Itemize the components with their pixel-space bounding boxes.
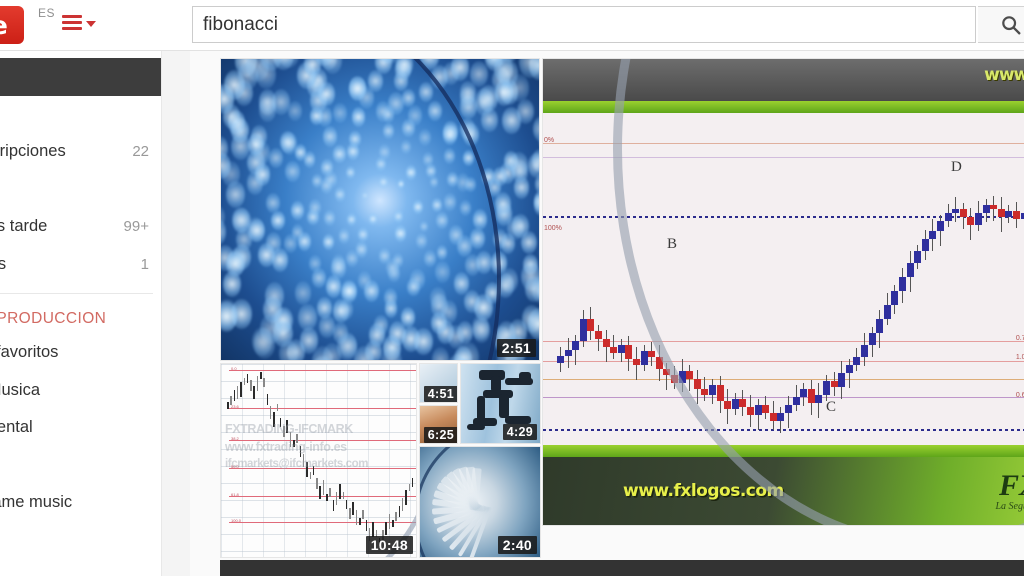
burst-dot bbox=[333, 145, 345, 163]
burst-dot bbox=[312, 268, 326, 288]
sidebar-item-count: 1 bbox=[141, 256, 149, 273]
candle-body bbox=[945, 213, 952, 221]
candle-body bbox=[603, 339, 610, 347]
sidebar-item-3[interactable]: rial bbox=[0, 171, 161, 209]
candle-body bbox=[793, 397, 800, 405]
burst-dot bbox=[291, 201, 304, 220]
burst-dot bbox=[406, 165, 416, 180]
candle-body bbox=[785, 405, 792, 413]
burst-dot bbox=[269, 148, 283, 169]
burst-dot bbox=[358, 227, 368, 242]
burst-dot bbox=[339, 228, 350, 244]
candle-body bbox=[831, 381, 838, 387]
price-tick bbox=[399, 506, 401, 517]
burst-dot bbox=[362, 191, 369, 201]
video-duration: 2:51 bbox=[497, 339, 536, 357]
country-code-label: ES bbox=[38, 6, 55, 20]
fibonacci-level-line bbox=[543, 379, 1024, 380]
burst-dot bbox=[514, 176, 530, 199]
candle-body bbox=[869, 333, 876, 345]
price-tick bbox=[257, 376, 259, 391]
price-tick bbox=[349, 508, 351, 519]
fx-green-band-top bbox=[543, 101, 1024, 113]
burst-dot bbox=[465, 177, 476, 193]
price-tick bbox=[244, 378, 246, 385]
burst-dot bbox=[510, 74, 529, 102]
video-thumbnail-small-a[interactable]: 4:51 bbox=[419, 363, 458, 403]
burst-dot bbox=[528, 308, 540, 339]
burst-dot bbox=[368, 70, 383, 91]
video-thumbnail-hands[interactable]: 6:25 bbox=[419, 405, 458, 444]
chart-point-label-B: B bbox=[667, 236, 677, 253]
sidebar-playlist-0[interactable]: os favoritos bbox=[0, 334, 161, 372]
burst-dot bbox=[282, 132, 298, 155]
price-tick bbox=[237, 386, 239, 399]
fibonacci-level-line bbox=[543, 157, 1024, 158]
price-tick bbox=[267, 394, 269, 405]
burst-dot bbox=[346, 166, 355, 180]
bottom-dark-strip bbox=[220, 560, 1024, 576]
yoga-figure-part bbox=[499, 394, 509, 418]
burst-dot bbox=[319, 315, 335, 337]
fibonacci-level-line bbox=[543, 143, 1024, 144]
fibonacci-level-line bbox=[543, 361, 1024, 362]
candle-body bbox=[960, 209, 967, 217]
burst-dot bbox=[470, 61, 488, 87]
chart-gridline bbox=[221, 483, 416, 484]
chart-gridline bbox=[221, 364, 416, 365]
fibonacci-level-line bbox=[229, 370, 416, 371]
video-duration: 10:48 bbox=[366, 536, 413, 554]
burst-dot bbox=[369, 213, 378, 225]
video-thumbnail-forex-chart[interactable]: www.fx 0%100%0.7640 901.0000 870.78640.6… bbox=[542, 58, 1024, 526]
search-form bbox=[192, 6, 976, 43]
fx-watermark-top: www.fx bbox=[984, 65, 1024, 85]
burst-dot bbox=[432, 198, 442, 212]
candle-body bbox=[732, 399, 739, 409]
burst-dot bbox=[413, 200, 423, 214]
candle-body bbox=[808, 389, 815, 403]
fibonacci-level-label: 61.8 bbox=[231, 492, 239, 497]
candle-body bbox=[762, 405, 769, 413]
burst-dot bbox=[460, 200, 471, 216]
video-thumbnail-nautilus[interactable]: 2:40 bbox=[419, 446, 541, 558]
fx-watermark-url: www.fxlogos.com bbox=[623, 481, 784, 501]
fx-green-band-bottom bbox=[543, 445, 1024, 457]
burst-dot bbox=[414, 328, 433, 355]
candle-body bbox=[914, 251, 921, 263]
candle-body bbox=[686, 371, 693, 379]
candle-body bbox=[641, 351, 648, 365]
fx-logo-subtitle: La Segunda bbox=[996, 501, 1024, 512]
price-tick bbox=[270, 406, 272, 419]
burst-dot bbox=[420, 221, 428, 232]
burst-dots bbox=[221, 59, 539, 360]
candle-wick bbox=[575, 335, 576, 365]
price-tick bbox=[247, 374, 249, 383]
price-tick bbox=[405, 490, 407, 505]
fibonacci-level-line bbox=[543, 429, 1024, 431]
fibonacci-level-line bbox=[543, 216, 1024, 218]
candle-body bbox=[755, 405, 762, 415]
burst-dot bbox=[463, 123, 479, 146]
candle-body bbox=[891, 291, 898, 305]
sidebar-divider bbox=[0, 293, 153, 294]
chart-gridline bbox=[221, 517, 416, 518]
burst-dot bbox=[431, 65, 448, 89]
fibonacci-level-label: 1.0000 87 bbox=[1016, 354, 1024, 361]
price-tick bbox=[333, 500, 335, 511]
watermark-line-3: ifcmarkets@ifcmarkets.com bbox=[225, 458, 368, 470]
burst-dot bbox=[379, 144, 390, 160]
candle-body bbox=[884, 305, 891, 319]
burst-dot bbox=[343, 282, 356, 300]
price-tick bbox=[412, 478, 414, 487]
burst-dot bbox=[309, 199, 321, 216]
price-tick bbox=[402, 498, 404, 511]
sidebar-section-title: REPRODUCCION bbox=[0, 304, 161, 334]
fx-logo: FX bbox=[999, 469, 1024, 503]
price-tick bbox=[346, 500, 348, 509]
candle-body bbox=[656, 357, 663, 369]
candle-body bbox=[1013, 211, 1020, 219]
burst-dot bbox=[444, 193, 456, 210]
sidebar-playlist-4[interactable]: ogame music bbox=[0, 484, 161, 522]
candle-body bbox=[747, 407, 754, 415]
hamburger-bar bbox=[62, 21, 82, 24]
candle-body bbox=[701, 389, 708, 395]
price-tick bbox=[392, 520, 394, 527]
sidebar-item-count: 22 bbox=[132, 143, 149, 160]
burst-dot bbox=[252, 327, 272, 356]
thumbnail-grid: 2:51 www.fx 0%100%0.7640 901.0000 870.78… bbox=[220, 58, 1024, 558]
fibonacci-level-label: 0% bbox=[544, 137, 554, 144]
burst-dot bbox=[517, 99, 535, 125]
price-tick bbox=[372, 522, 374, 537]
burst-dot bbox=[321, 159, 333, 176]
candle-body bbox=[846, 365, 853, 373]
youtube-logo-mark: be bbox=[0, 6, 24, 44]
price-tick bbox=[339, 484, 341, 499]
chart-gridline bbox=[410, 364, 411, 557]
fibonacci-level-line bbox=[229, 496, 416, 497]
burst-dot bbox=[473, 209, 487, 230]
burst-dot bbox=[285, 161, 299, 182]
candle-body bbox=[998, 209, 1005, 217]
burst-dot bbox=[430, 176, 438, 187]
candle-body bbox=[929, 231, 936, 239]
price-tick bbox=[230, 396, 232, 405]
burst-dot bbox=[401, 140, 411, 154]
burst-dot bbox=[347, 213, 356, 226]
burst-dot bbox=[463, 150, 475, 167]
price-tick bbox=[362, 510, 364, 519]
price-tick bbox=[343, 492, 345, 499]
burst-dot bbox=[396, 58, 413, 77]
youtube-logo[interactable]: be bbox=[0, 5, 32, 45]
candle-body bbox=[679, 371, 686, 383]
search-icon bbox=[1000, 14, 1022, 36]
fibonacci-level-label: 100% bbox=[544, 225, 562, 232]
candle-body bbox=[739, 399, 746, 407]
watermark-line-1: FXTRADING-IFCMARK bbox=[225, 422, 353, 436]
candle-body bbox=[838, 373, 845, 387]
video-duration: 4:51 bbox=[424, 386, 458, 402]
burst-dot bbox=[470, 228, 485, 249]
chart-point-label-D: D bbox=[951, 159, 962, 176]
candle-body bbox=[823, 381, 830, 395]
sidebar-item-label: más tarde bbox=[0, 217, 47, 236]
burst-dot bbox=[435, 261, 450, 282]
candle-body bbox=[815, 395, 822, 403]
price-tick bbox=[227, 402, 229, 409]
candle-body bbox=[580, 319, 587, 341]
candle-body bbox=[800, 389, 807, 397]
burst-dot bbox=[431, 312, 446, 334]
chart-gridline bbox=[221, 500, 416, 501]
candle-body bbox=[694, 379, 701, 389]
burst-dot bbox=[426, 164, 436, 178]
price-tick bbox=[250, 380, 252, 391]
candle-body bbox=[922, 239, 929, 251]
candle-body bbox=[861, 345, 868, 357]
price-tick bbox=[277, 404, 279, 411]
fibonacci-level-label: 23.6 bbox=[231, 404, 239, 409]
burst-dot bbox=[333, 103, 347, 123]
burst-dot bbox=[437, 245, 448, 260]
candle-body bbox=[724, 401, 731, 409]
burst-dot bbox=[349, 131, 361, 148]
sidebar-item-label: uscripciones bbox=[0, 142, 66, 161]
price-tick bbox=[395, 512, 397, 521]
candle-body bbox=[625, 345, 632, 359]
price-tick bbox=[385, 522, 387, 535]
burst-dot bbox=[501, 233, 515, 254]
hamburger-menu-icon[interactable] bbox=[62, 15, 94, 37]
sidebar-playlist-1[interactable]: e Musica bbox=[0, 372, 161, 410]
fibonacci-level-label: 100.0 bbox=[231, 518, 241, 523]
burst-dot bbox=[255, 163, 271, 186]
burst-dot bbox=[398, 179, 405, 188]
video-duration: 2:40 bbox=[498, 536, 537, 554]
sidebar-item-2[interactable]: uscripciones 22 bbox=[0, 133, 161, 171]
fibonacci-level-line bbox=[543, 397, 1024, 398]
sidebar-item-0[interactable]: ver bbox=[0, 58, 161, 96]
burst-dot bbox=[473, 318, 490, 343]
candle-body bbox=[876, 319, 883, 333]
burst-dot bbox=[259, 89, 277, 115]
candle-body bbox=[937, 221, 944, 231]
sidebar-item-label: pras bbox=[0, 255, 6, 274]
burst-dot bbox=[352, 107, 365, 126]
burst-dot bbox=[379, 176, 388, 189]
candle-body bbox=[967, 217, 974, 225]
sidebar-item-count: 99+ bbox=[124, 218, 149, 235]
burst-dot bbox=[475, 88, 494, 115]
burst-dot bbox=[424, 250, 436, 267]
burst-dot bbox=[248, 133, 264, 156]
burst-dot bbox=[443, 125, 457, 145]
price-tick bbox=[366, 520, 368, 531]
search-input[interactable] bbox=[192, 6, 976, 43]
price-tick bbox=[356, 510, 358, 525]
price-tick bbox=[263, 378, 265, 387]
burst-dot bbox=[521, 231, 537, 254]
sidebar-content-gap bbox=[162, 51, 190, 576]
chart-point-label-C: C bbox=[826, 399, 836, 416]
burst-dot bbox=[476, 251, 492, 274]
burst-dot bbox=[295, 281, 311, 305]
burst-dot bbox=[335, 187, 346, 202]
candle-body bbox=[907, 263, 914, 277]
candle-body bbox=[1021, 213, 1024, 219]
candle-body bbox=[671, 375, 678, 383]
candle-body bbox=[983, 205, 990, 213]
candle-body bbox=[572, 341, 579, 350]
candle-body bbox=[777, 413, 784, 421]
fibonacci-level-label: 0.7640 90 bbox=[1016, 335, 1024, 342]
price-tick bbox=[326, 494, 328, 501]
hamburger-bar bbox=[62, 27, 82, 30]
burst-dot bbox=[407, 278, 420, 297]
candle-body bbox=[975, 213, 982, 225]
burst-dot bbox=[323, 126, 337, 147]
candle-body bbox=[587, 319, 594, 331]
burst-dot bbox=[323, 234, 334, 251]
burst-dot bbox=[539, 128, 540, 155]
burst-dot bbox=[271, 211, 284, 230]
burst-dot bbox=[419, 129, 431, 146]
burst-dot bbox=[444, 148, 455, 165]
masthead: be ES bbox=[0, 0, 1024, 51]
burst-dot bbox=[223, 271, 241, 297]
price-tick bbox=[323, 480, 325, 495]
price-tick bbox=[389, 514, 391, 529]
candle-body bbox=[853, 357, 860, 365]
sidebar-item-5[interactable]: pras 1 bbox=[0, 246, 161, 284]
candle-body bbox=[595, 331, 602, 339]
burst-dot bbox=[326, 275, 342, 298]
burst-dot bbox=[408, 105, 422, 125]
search-button[interactable] bbox=[978, 6, 1024, 43]
sidebar-item-1[interactable]: nal bbox=[0, 96, 161, 134]
burst-dot bbox=[324, 210, 335, 226]
candle-body bbox=[990, 205, 997, 209]
price-tick bbox=[240, 382, 242, 397]
burst-dot bbox=[288, 101, 302, 121]
video-duration: 4:29 bbox=[503, 424, 537, 440]
candle-body bbox=[663, 369, 670, 375]
sidebar-item-4[interactable]: más tarde 99+ bbox=[0, 208, 161, 246]
candle-body bbox=[717, 385, 724, 401]
hamburger-bar bbox=[62, 15, 82, 18]
chart-gridline bbox=[221, 364, 222, 557]
price-tick bbox=[352, 502, 354, 515]
burst-dot bbox=[419, 82, 433, 103]
sidebar-playlist-3[interactable]: ca bbox=[0, 447, 161, 485]
price-tick bbox=[316, 478, 318, 489]
burst-dot bbox=[394, 210, 403, 223]
video-thumbnail-blue-burst[interactable]: 2:51 bbox=[220, 58, 540, 361]
fx-top-band: www.fx bbox=[543, 59, 1024, 101]
burst-dot bbox=[312, 174, 322, 189]
candle-body bbox=[557, 356, 564, 363]
sidebar-playlist-2[interactable]: umental bbox=[0, 409, 161, 447]
price-tick bbox=[310, 472, 312, 479]
burst-dot bbox=[383, 123, 394, 139]
video-thumbnail-line-chart[interactable]: 0.023.638.250.061.8100.0 FXTRADING-IFCMA… bbox=[220, 363, 417, 558]
burst-dot bbox=[386, 258, 399, 277]
fx-bottom-band: www.fxlogos.com FX La Segunda bbox=[543, 457, 1024, 525]
candle-body bbox=[565, 350, 572, 356]
candle-body bbox=[618, 345, 625, 353]
price-tick bbox=[234, 390, 236, 401]
candle-body bbox=[610, 347, 617, 353]
search-results-region: 2:51 www.fx 0%100%0.7640 901.0000 870.78… bbox=[190, 51, 1024, 576]
watermark-line-2: www.fxtrading-info.es bbox=[225, 440, 347, 454]
burst-dot bbox=[493, 167, 506, 186]
burst-dot bbox=[402, 89, 415, 107]
burst-dot bbox=[346, 250, 358, 267]
price-tick bbox=[260, 372, 262, 379]
price-tick bbox=[409, 484, 411, 491]
candle-body bbox=[899, 277, 906, 291]
yoga-figure-part bbox=[505, 416, 531, 424]
price-tick bbox=[253, 386, 255, 399]
burst-dot bbox=[395, 225, 406, 241]
sidebar-guide: ver nal uscripciones 22 rial más tarde 9… bbox=[0, 51, 162, 576]
chart-gridline bbox=[221, 398, 416, 399]
burst-dot bbox=[436, 212, 448, 229]
chart-gridline bbox=[221, 415, 416, 416]
candle-body bbox=[770, 413, 777, 421]
price-tick bbox=[336, 492, 338, 505]
fibonacci-level-line bbox=[543, 341, 1024, 342]
video-duration: 6:25 bbox=[424, 427, 458, 443]
price-tick bbox=[319, 486, 321, 499]
fibonacci-level-label: 0.0 bbox=[231, 366, 237, 371]
burst-dot bbox=[349, 77, 365, 101]
chevron-down-icon bbox=[86, 21, 96, 27]
candle-body bbox=[633, 359, 640, 365]
video-thumbnail-yoga[interactable]: 4:29 bbox=[460, 363, 541, 444]
candle-body bbox=[1005, 211, 1012, 217]
candle-body bbox=[648, 351, 655, 357]
burst-dot bbox=[284, 234, 297, 253]
candle-wick bbox=[666, 363, 667, 390]
burst-dot bbox=[266, 193, 280, 213]
burst-dot bbox=[416, 233, 427, 249]
yoga-figure-part bbox=[467, 424, 485, 430]
price-tick bbox=[359, 518, 361, 525]
price-tick bbox=[329, 488, 331, 497]
yoga-figure-part bbox=[519, 372, 531, 382]
burst-dot bbox=[540, 241, 541, 265]
burst-dot bbox=[451, 58, 470, 81]
sidebar-playlist-5[interactable]: e bbox=[0, 522, 161, 560]
candle-wick bbox=[849, 359, 850, 388]
fibonacci-level-label: 0.6571 80 bbox=[1016, 392, 1024, 399]
candle-body bbox=[709, 385, 716, 395]
candle-body bbox=[952, 209, 959, 213]
fibonacci-level-line bbox=[229, 408, 416, 409]
burst-dot bbox=[428, 101, 442, 121]
burst-dot bbox=[432, 347, 450, 361]
